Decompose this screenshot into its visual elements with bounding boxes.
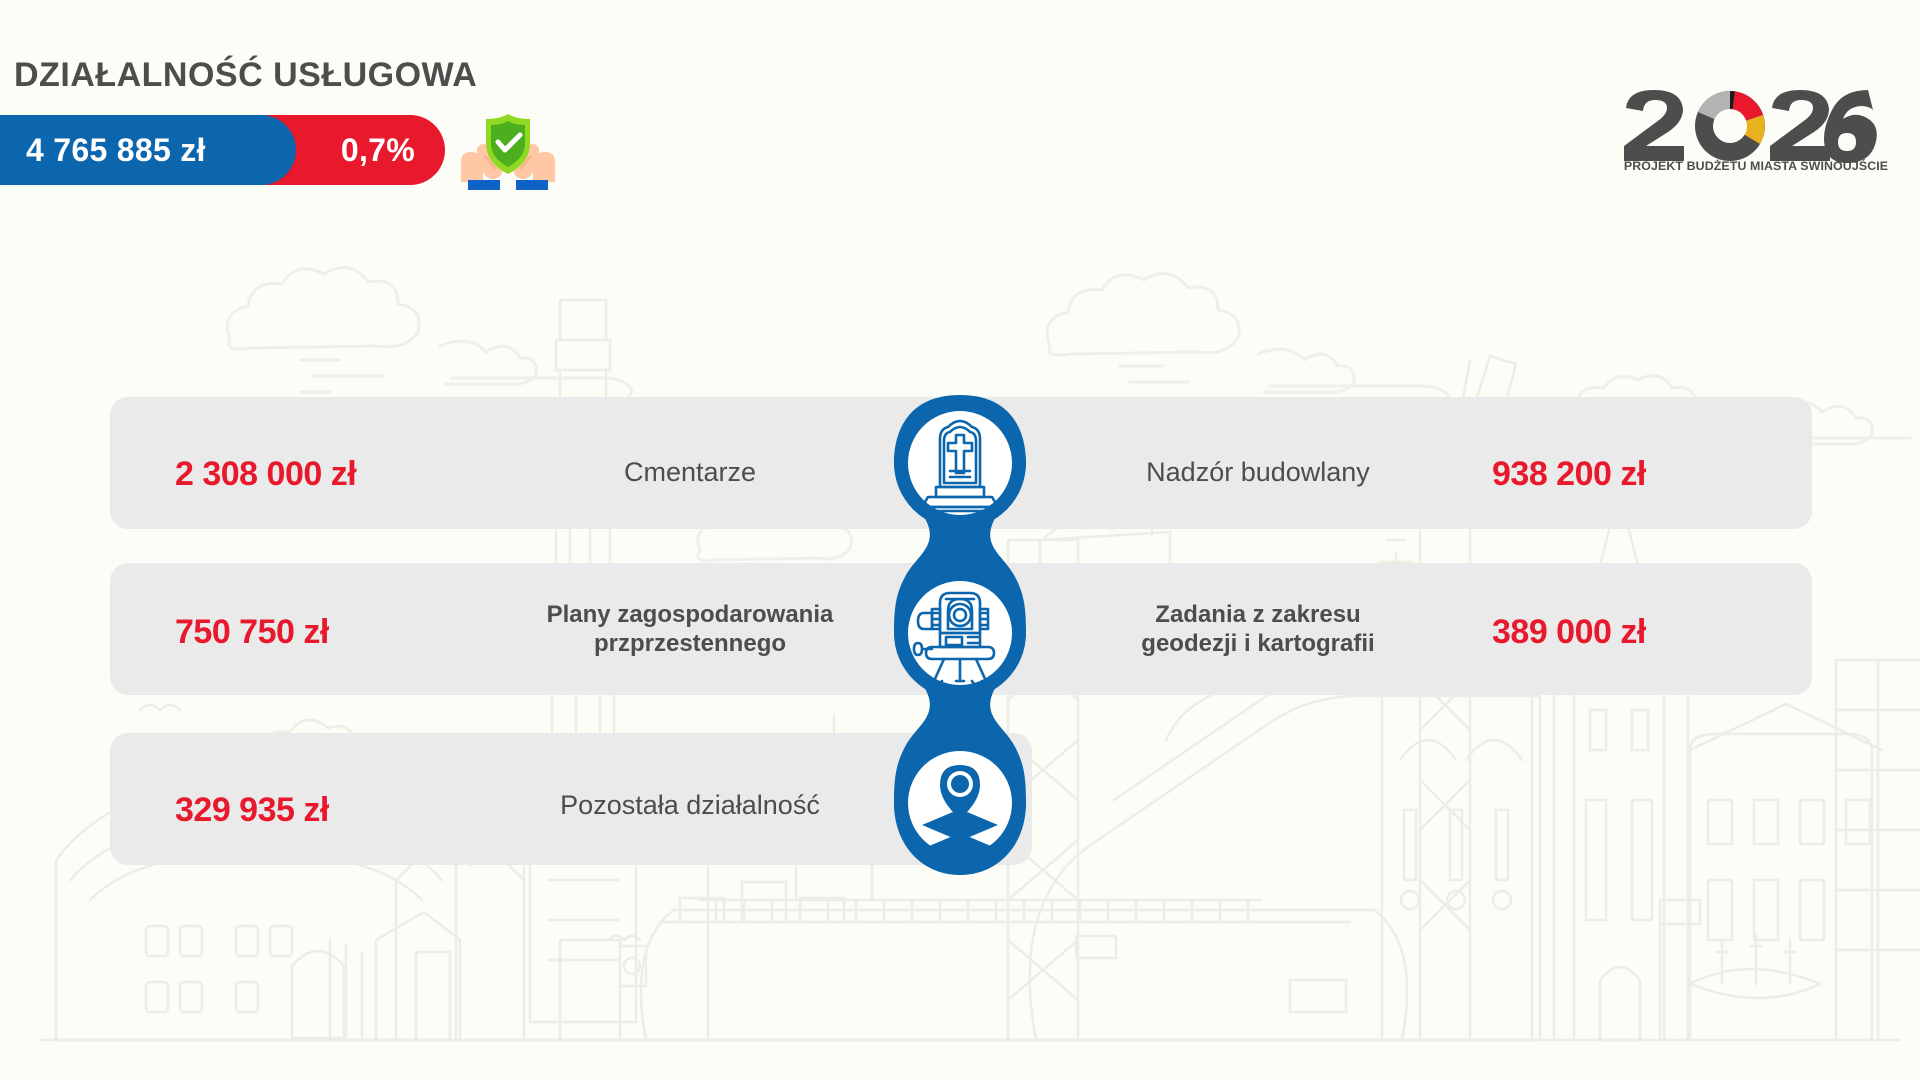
percent-value: 0,7% [341, 132, 415, 169]
chain-node-1 [894, 397, 1026, 529]
shield-in-hands-icon [455, 112, 561, 190]
row-amount-right: 938 200 zł [1492, 455, 1646, 494]
row-label-left: Cmentarze [480, 456, 900, 489]
chain-node-3 [894, 737, 1026, 869]
row-label-right: Zadania z zakresu geodezji i kartografii [1048, 600, 1468, 659]
row-label-left: Plany zagospodarowania przprzestennego [480, 600, 900, 659]
page-title: DZIAŁALNOŚĆ USŁUGOWA [14, 56, 477, 95]
row-amount-left: 329 935 zł [175, 791, 329, 830]
icon-chain [888, 385, 1032, 885]
row-amount-right: 389 000 zł [1492, 613, 1646, 652]
total-amount-value: 4 765 885 zł [26, 132, 206, 169]
logo-digit-6 [1824, 90, 1877, 163]
logo-subtitle: PROJEKT BUDŻETU MIASTA ŚWINOUJŚCIE [1624, 158, 1888, 172]
amount-badge: 4 765 885 zł [0, 115, 296, 185]
logo-digit-2-first [1624, 90, 1684, 161]
logo-donut-chart [1695, 91, 1765, 161]
row-label-right: Nadzór budowlany [1048, 456, 1468, 489]
logo-digit-2-second [1770, 90, 1830, 161]
chain-node-2 [894, 567, 1026, 699]
row-label-left: Pozostała działalność [480, 789, 900, 822]
logo-budget-2026: PROJEKT BUDŻETU MIASTA ŚWINOUJŚCIE [1620, 88, 1892, 172]
row-amount-left: 750 750 zł [175, 613, 329, 652]
row-amount-left: 2 308 000 zł [175, 455, 356, 494]
